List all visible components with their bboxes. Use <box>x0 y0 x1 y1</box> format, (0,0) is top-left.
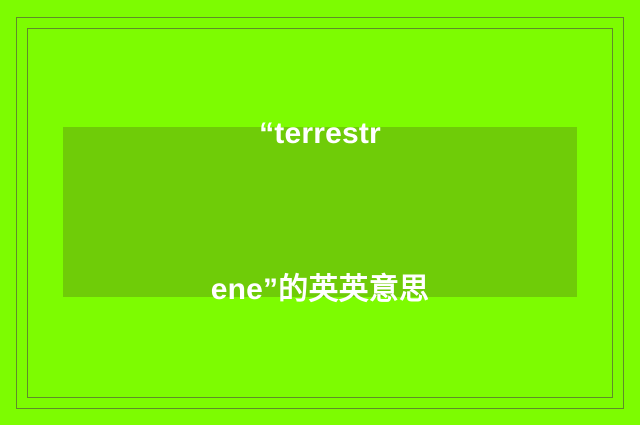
poster-canvas: “terrestr ene”的英英意思 <box>0 0 640 425</box>
page-title-line-2: ene”的英英意思 <box>63 264 577 316</box>
page-title: “terrestr ene”的英英意思 <box>63 4 577 420</box>
page-title-line-1: “terrestr <box>63 108 577 160</box>
title-panel: “terrestr ene”的英英意思 <box>63 127 577 297</box>
